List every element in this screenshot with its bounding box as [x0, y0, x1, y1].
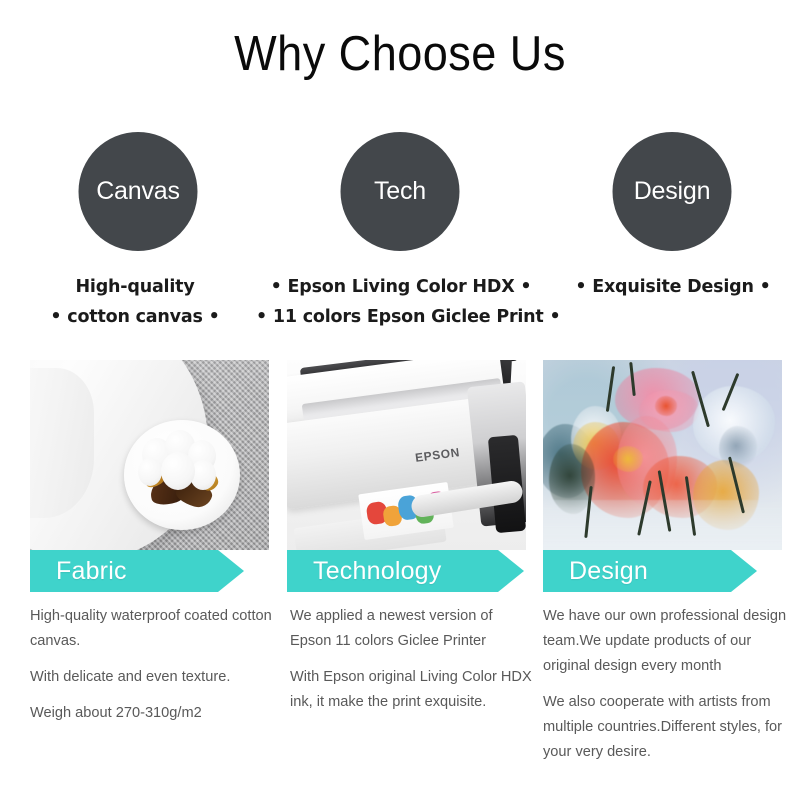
feature-caption-design: • Exquisite Design • [550, 272, 796, 302]
body-col-fabric: High-quality waterproof coated cotton ca… [30, 604, 273, 726]
cotton-boll [161, 452, 195, 490]
caption-line: • 11 colors Epson Giclee Print • [256, 302, 546, 332]
body-col-design: We have our own professional design team… [543, 604, 793, 765]
canvas-roll-edge [30, 368, 94, 518]
ribbon-label-design: Design [543, 557, 648, 586]
flower-blob [719, 426, 757, 470]
feature-caption-canvas: High-quality • cotton canvas • [12, 272, 258, 332]
ribbon-label-technology: Technology [287, 557, 441, 586]
feature-circle-col-canvas: Canvas [7, 115, 273, 255]
page-title: Why Choose Us [32, 26, 768, 82]
feature-captions-row: High-quality • cotton canvas • • Epson L… [0, 272, 800, 338]
cotton-boll [138, 458, 162, 486]
feature-caption-tech: • Epson Living Color HDX • • 11 colors E… [256, 272, 546, 332]
fabric-photo [30, 360, 269, 550]
panel-design: Design [543, 360, 782, 592]
feature-circle-col-design: Design [536, 115, 800, 255]
panel-fabric: Fabric [30, 360, 269, 592]
flower-blob [543, 500, 782, 550]
panel-technology: EPSON Technology [287, 360, 526, 592]
feature-circle-tech[interactable]: Tech [341, 132, 460, 251]
body-paragraph: With delicate and even texture. [30, 665, 273, 690]
feature-circle-col-tech: Tech [267, 115, 533, 255]
caption-line: • Epson Living Color HDX • [256, 272, 546, 302]
feature-panels-row: Fabric EPSON Technology [0, 360, 800, 592]
ribbon-fabric[interactable]: Fabric [30, 550, 244, 592]
flower-blob [613, 446, 643, 472]
feature-circle-label-design: Design [634, 179, 711, 204]
feature-body-row: High-quality waterproof coated cotton ca… [0, 604, 800, 804]
ribbon-technology[interactable]: Technology [287, 550, 524, 592]
painting-photo [543, 360, 782, 550]
caption-line: • Exquisite Design • [550, 272, 796, 302]
caption-line: • cotton canvas • [12, 302, 258, 332]
body-col-technology: We applied a newest version of Epson 11 … [290, 604, 533, 715]
body-paragraph: We also cooperate with artists from mult… [543, 690, 793, 765]
feature-circle-label-tech: Tech [374, 179, 426, 204]
body-paragraph: High-quality waterproof coated cotton ca… [30, 604, 273, 654]
ribbon-design[interactable]: Design [543, 550, 757, 592]
caption-line: High-quality [12, 272, 258, 302]
feature-circles-row: Canvas Tech Design [0, 115, 800, 255]
cotton-plate [124, 420, 240, 530]
feature-circle-design[interactable]: Design [613, 132, 732, 251]
body-paragraph: With Epson original Living Color HDX ink… [290, 665, 533, 715]
body-paragraph: We applied a newest version of Epson 11 … [290, 604, 533, 654]
body-paragraph: Weigh about 270-310g/m2 [30, 701, 273, 726]
feature-circle-label-canvas: Canvas [96, 179, 180, 204]
ribbon-label-fabric: Fabric [30, 557, 127, 586]
feature-circle-canvas[interactable]: Canvas [79, 132, 198, 251]
body-paragraph: We have our own professional design team… [543, 604, 793, 679]
printer-photo: EPSON [287, 360, 526, 550]
flower-blob [655, 396, 677, 416]
